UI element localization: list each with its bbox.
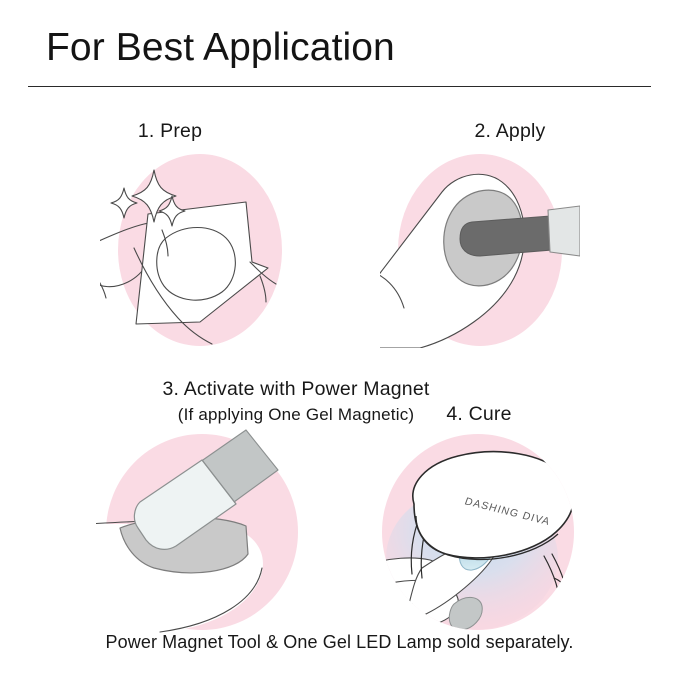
footer-note: Power Magnet Tool & One Gel LED Lamp sol… <box>0 632 679 653</box>
prep-illustration-svg <box>100 152 300 348</box>
step-label-prep: 1. Prep <box>0 120 340 143</box>
page-title: For Best Application <box>46 28 395 69</box>
cure-illustration-svg: DASHING DIVA <box>368 428 588 636</box>
apply-illustration-svg <box>380 152 580 348</box>
brush-handle <box>548 206 580 256</box>
illustration-prep <box>100 152 300 348</box>
illustration-apply <box>380 152 580 348</box>
instruction-card: For Best Application 1. Prep 2. Apply 3.… <box>0 0 679 679</box>
step-label-cure: 4. Cure <box>374 403 584 426</box>
activate-illustration-svg <box>96 428 310 636</box>
step-label-apply: 2. Apply <box>340 120 679 143</box>
illustration-activate <box>96 428 310 636</box>
title-divider <box>28 86 651 87</box>
brush-bristle <box>460 216 552 256</box>
illustration-cure: DASHING DIVA <box>368 428 588 636</box>
nail-outline <box>157 228 236 301</box>
step-label-activate: 3. Activate with Power Magnet <box>16 378 576 401</box>
